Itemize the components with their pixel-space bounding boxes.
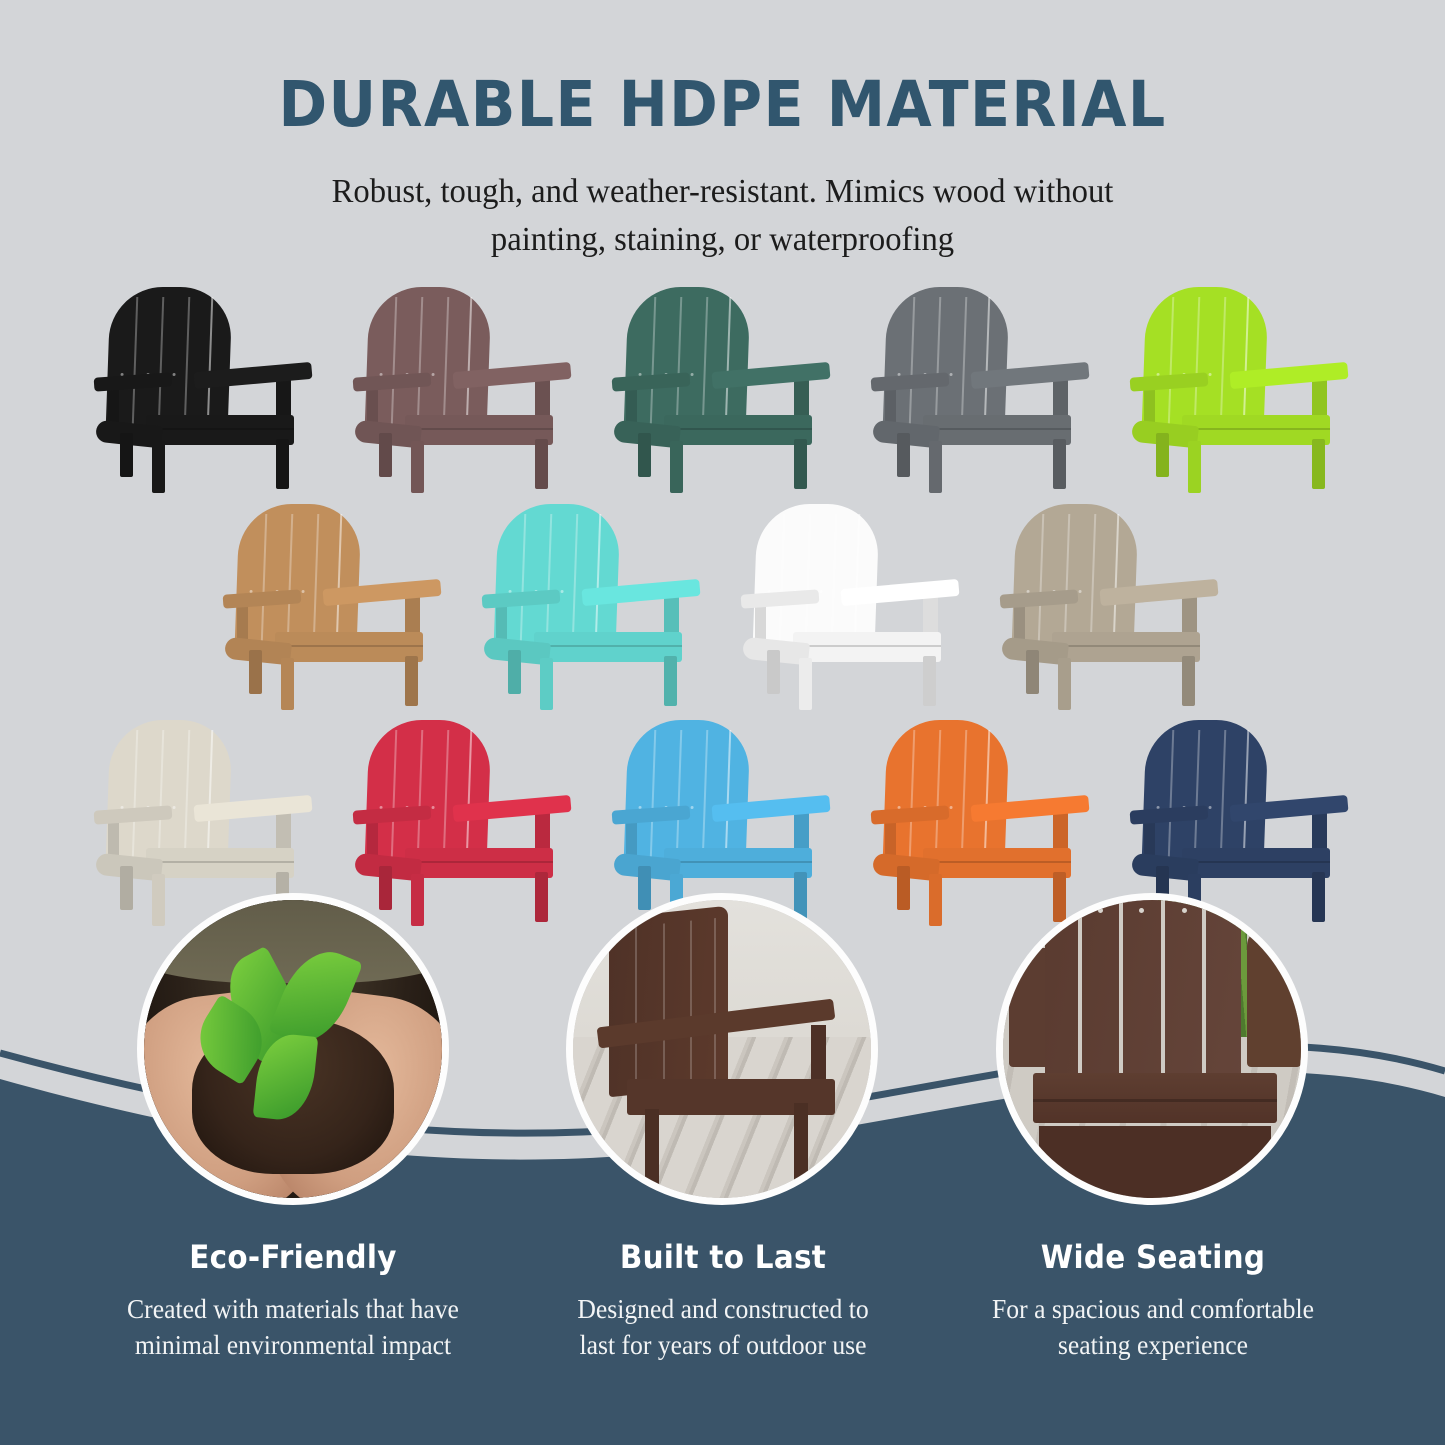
feature-photos bbox=[0, 893, 1445, 1213]
chair-swatch-turquoise[interactable] bbox=[478, 500, 708, 712]
chair-leg bbox=[411, 441, 424, 493]
chair-seat bbox=[1182, 415, 1330, 445]
chair-leg bbox=[670, 441, 683, 493]
chair-swatch-weathered-taupe[interactable] bbox=[996, 500, 1226, 712]
adirondack-chair-icon bbox=[737, 500, 967, 712]
chair-seat bbox=[1182, 848, 1330, 878]
chair-leg bbox=[1026, 650, 1039, 694]
wide-seat-image bbox=[1003, 900, 1301, 1198]
sleeve-shape bbox=[137, 893, 449, 983]
chair-leg bbox=[249, 650, 262, 694]
chair-swatch-gray[interactable] bbox=[867, 283, 1097, 495]
chair-leg bbox=[794, 1103, 809, 1186]
chair-leg bbox=[1188, 441, 1201, 493]
adirondack-chair-icon bbox=[90, 283, 320, 495]
chair-leg bbox=[664, 656, 677, 706]
chair-back-closeup-photo bbox=[996, 893, 1308, 1205]
seedling-image bbox=[144, 900, 442, 1198]
chair-leg bbox=[767, 650, 780, 694]
adirondack-chair-icon bbox=[1126, 283, 1356, 495]
chair-seat bbox=[923, 415, 1071, 445]
chair-leg bbox=[152, 441, 165, 493]
feature-description-line-2: minimal environmental impact bbox=[134, 1330, 450, 1360]
chair-seat bbox=[146, 415, 294, 445]
feature-description: Created with materials that have minimal… bbox=[88, 1292, 497, 1364]
adirondack-chair-icon bbox=[996, 500, 1226, 712]
chair-back-shape bbox=[609, 906, 728, 1097]
page-subtitle: Robust, tough, and weather-resistant. Mi… bbox=[29, 168, 1416, 265]
chair-leg bbox=[508, 650, 521, 694]
chair-leg bbox=[1156, 433, 1169, 477]
feature-title: Built to Last bbox=[525, 1238, 921, 1276]
subtitle-line-2: painting, staining, or waterproofing bbox=[29, 216, 1416, 264]
chair-row-2 bbox=[0, 500, 1445, 712]
chair-seat bbox=[664, 848, 812, 878]
chair-swatch-teak[interactable] bbox=[219, 500, 449, 712]
feature-description: Designed and constructed to last for yea… bbox=[518, 1292, 927, 1364]
chair-seat-bar bbox=[1033, 1073, 1277, 1124]
chair-leg bbox=[276, 439, 289, 489]
feature-description-line-1: For a spacious and comfortable bbox=[992, 1294, 1314, 1324]
chair-leg bbox=[281, 658, 294, 710]
chair-leg bbox=[799, 658, 812, 710]
feature-built-to-last: Built to Last Designed and constructed t… bbox=[508, 1238, 938, 1364]
chair-seat bbox=[405, 415, 553, 445]
feature-title: Wide Seating bbox=[955, 1238, 1351, 1276]
chair-seat bbox=[1052, 632, 1200, 662]
chair-leg bbox=[405, 656, 418, 706]
feature-captions: Eco-Friendly Created with materials that… bbox=[0, 1238, 1445, 1364]
adirondack-chair-icon bbox=[608, 283, 838, 495]
feature-description: For a spacious and comfortable seating e… bbox=[948, 1292, 1357, 1364]
chair-leg bbox=[794, 439, 807, 489]
chair-color-grid bbox=[0, 283, 1445, 928]
chair-leg bbox=[1053, 439, 1066, 489]
chair-base bbox=[1039, 1126, 1271, 1198]
feature-title: Eco-Friendly bbox=[95, 1238, 491, 1276]
feature-eco-friendly: Eco-Friendly Created with materials that… bbox=[78, 1238, 508, 1364]
chair-seat bbox=[405, 848, 553, 878]
chair-leg bbox=[929, 441, 942, 493]
feature-description-line-1: Designed and constructed to bbox=[577, 1294, 868, 1324]
chair-leg bbox=[535, 439, 548, 489]
chair-leg bbox=[645, 1109, 660, 1192]
chair-swatch-white[interactable] bbox=[737, 500, 967, 712]
chair-leg bbox=[1312, 439, 1325, 489]
feature-description-line-2: seating experience bbox=[1057, 1330, 1247, 1360]
brown-chair-on-patio-photo bbox=[566, 893, 878, 1205]
chair-leg bbox=[540, 658, 553, 710]
hands-holding-seedling-photo bbox=[137, 893, 449, 1205]
adirondack-chair-icon bbox=[867, 283, 1097, 495]
chair-swatch-lime-green[interactable] bbox=[1126, 283, 1356, 495]
chair-right-arm bbox=[1247, 936, 1301, 1067]
chair-seat bbox=[534, 632, 682, 662]
feature-wide-seating: Wide Seating For a spacious and comforta… bbox=[938, 1238, 1368, 1364]
chair-seat bbox=[275, 632, 423, 662]
feature-description-line-1: Created with materials that have bbox=[127, 1294, 459, 1324]
chair-seat bbox=[923, 848, 1071, 878]
chair-leg bbox=[1182, 656, 1195, 706]
header: DURABLE HDPE MATERIAL Robust, tough, and… bbox=[0, 0, 1445, 265]
chair-leg bbox=[897, 433, 910, 477]
subtitle-line-1: Robust, tough, and weather-resistant. Mi… bbox=[29, 168, 1416, 216]
chair-leg bbox=[1058, 658, 1071, 710]
chair-row-1 bbox=[0, 283, 1445, 495]
page-title: DURABLE HDPE MATERIAL bbox=[51, 72, 1395, 138]
adirondack-chair-icon bbox=[478, 500, 708, 712]
chair-swatch-black[interactable] bbox=[90, 283, 320, 495]
adirondack-chair-icon bbox=[219, 500, 449, 712]
chair-seat bbox=[664, 415, 812, 445]
adirondack-chair-icon bbox=[349, 283, 579, 495]
chair-leg bbox=[120, 433, 133, 477]
feature-description-line-2: last for years of outdoor use bbox=[579, 1330, 866, 1360]
chair-seat bbox=[146, 848, 294, 878]
chair-leg bbox=[923, 656, 936, 706]
patio-chair-image bbox=[573, 900, 871, 1198]
chair-leg bbox=[379, 433, 392, 477]
chair-leg bbox=[638, 433, 651, 477]
chair-seat bbox=[793, 632, 941, 662]
chair-swatch-dark-green[interactable] bbox=[608, 283, 838, 495]
chair-swatch-brown[interactable] bbox=[349, 283, 579, 495]
